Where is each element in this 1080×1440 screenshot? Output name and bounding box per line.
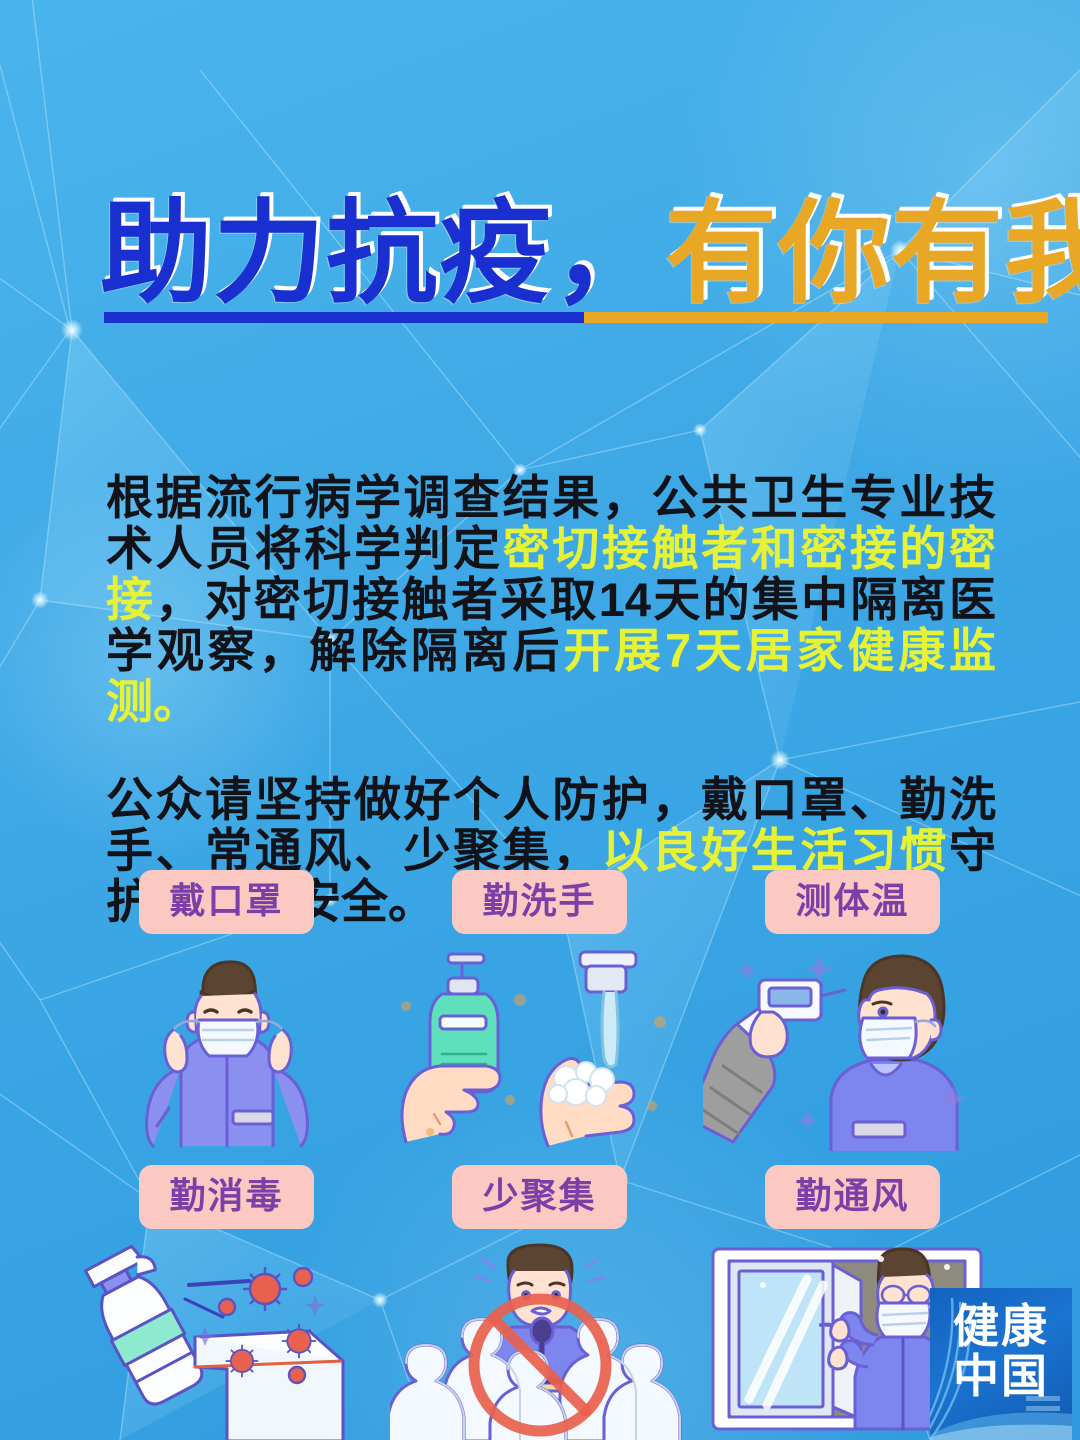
wear-mask-icon [77, 946, 377, 1151]
poster-canvas: 助力抗疫，有你有我 根据流行病学调查结果，公共卫生专业技术人员将科学判定密切接触… [0, 0, 1080, 1440]
tip-label-wear-mask: 戴口罩 [139, 870, 313, 934]
tip-label-disinfect: 勤消毒 [139, 1165, 313, 1229]
logo-line-2: 中国 [930, 1352, 1072, 1400]
check-temperature-icon [703, 946, 1003, 1151]
avoid-gathering-icon [390, 1241, 690, 1440]
health-china-logo: 健康 中国 [930, 1288, 1072, 1440]
tip-cell-wash-hands[interactable]: 勤洗手 [383, 870, 696, 1151]
tip-label-ventilate: 勤通风 [765, 1165, 939, 1229]
title-underline-gold [584, 312, 1048, 323]
title-part-1: 助力抗疫， [100, 191, 665, 316]
logo-line-1: 健康 [930, 1302, 1072, 1350]
prevention-tips-grid: 戴口罩 [70, 870, 1010, 1440]
tips-row-1: 戴口罩 [70, 870, 1010, 1151]
tip-cell-disinfect[interactable]: 勤消毒 [70, 1165, 383, 1440]
title-underline [104, 312, 1048, 323]
tip-cell-wear-mask[interactable]: 戴口罩 [70, 870, 383, 1151]
tip-cell-check-temperature[interactable]: 测体温 [696, 870, 1009, 1151]
paragraph-1: 根据流行病学调查结果，公共卫生专业技术人员将科学判定密切接触者和密接的密接，对密… [106, 472, 996, 727]
tip-label-avoid-gathering: 少聚集 [452, 1165, 626, 1229]
page-title: 助力抗疫，有你有我 [100, 196, 1060, 312]
title-part-2: 有你有我 [665, 191, 1080, 316]
tip-cell-avoid-gathering[interactable]: 少聚集 [383, 1165, 696, 1440]
title-underline-blue [104, 312, 584, 323]
tip-label-check-temperature: 测体温 [765, 870, 939, 934]
disinfect-icon [77, 1241, 377, 1440]
tip-label-wash-hands: 勤洗手 [452, 870, 626, 934]
tips-row-2: 勤消毒 [70, 1165, 1010, 1440]
wash-hands-icon [390, 946, 690, 1151]
